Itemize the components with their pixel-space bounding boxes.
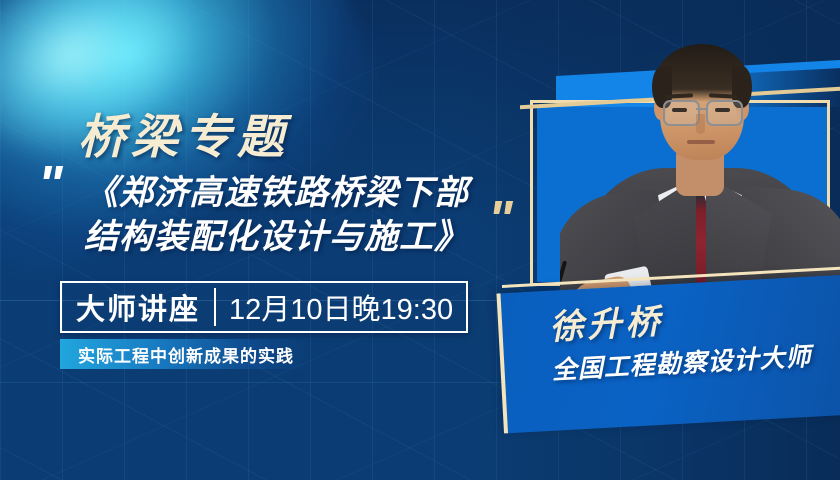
subtitle-bar: 实际工程中创新成果的实践 — [60, 339, 308, 369]
quote-close-mark: " — [488, 205, 510, 236]
portrait-mouth — [687, 140, 715, 144]
lecture-datetime: 12月10日晚19:30 — [216, 283, 466, 331]
lecture-datetime-box: 大师讲座 12月10日晚19:30 — [60, 281, 468, 333]
portrait-eye-right — [715, 108, 730, 112]
page-title: 桥梁专题 — [78, 98, 290, 167]
promo-poster: 徐升桥 全国工程勘察设计大师 桥梁专题 " " 《郑济高速铁路桥梁下部 结构装配… — [0, 0, 840, 480]
speaker-info: 徐升桥 全国工程勘察设计大师 — [548, 286, 812, 387]
portrait-eye-left — [672, 108, 687, 112]
quote-open-mark: " — [38, 170, 60, 201]
book-title-line-1: 《郑济高速铁路桥梁下部 — [84, 172, 469, 216]
book-title: 《郑济高速铁路桥梁下部 结构装配化设计与施工》 — [84, 172, 469, 259]
portrait-glasses-left-lens — [663, 100, 700, 126]
portrait-glasses-right-lens — [706, 100, 743, 126]
portrait-nose — [696, 114, 705, 134]
portrait-glasses-bridge — [696, 108, 706, 110]
speaker-portrait — [560, 18, 840, 318]
lecture-label: 大师讲座 — [62, 283, 214, 331]
book-title-line-2: 结构装配化设计与施工》 — [84, 216, 469, 260]
